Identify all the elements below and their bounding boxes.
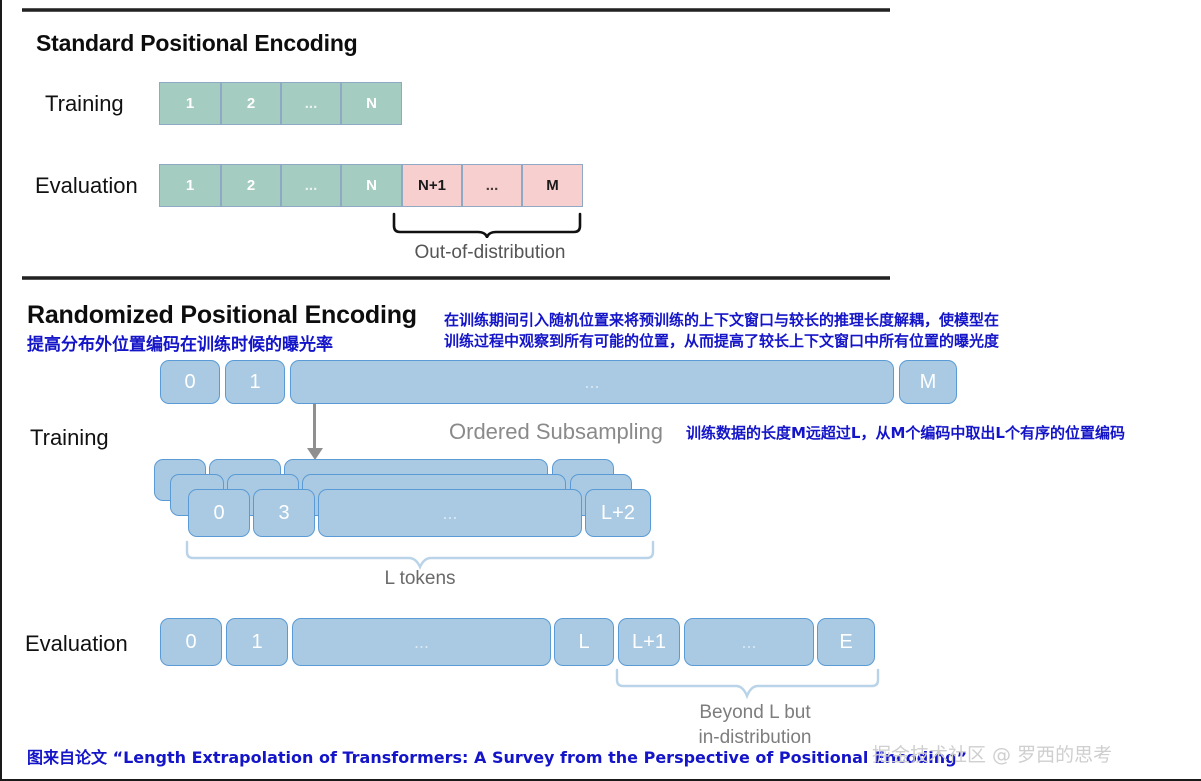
subsampling-annotation: 训练数据的长度M远超过L，从M个编码中取出L个有序的位置编码 — [686, 422, 1125, 443]
standard-training-cell: 2 — [221, 82, 281, 125]
eval-seq-box: 1 — [226, 618, 288, 666]
eval-seq-box: E — [817, 618, 875, 666]
source-seq-box: ... — [290, 360, 894, 404]
out-of-distribution-caption: Out-of-distribution — [405, 240, 575, 265]
standard-eval-ood-cell: M — [522, 164, 583, 207]
sampled-seq-box: L+2 — [585, 489, 651, 537]
randomized-sub-annotation: 提高分布外位置编码在训练时候的曝光率 — [27, 330, 333, 355]
standard-eval-ood-cell: N+1 — [402, 164, 462, 207]
eval-seq-box: ... — [684, 618, 814, 666]
page-border-left — [0, 0, 2, 781]
watermark: 掘金技术社区 @ 罗西的思考 — [872, 740, 1112, 767]
standard-evaluation-label: Evaluation — [35, 173, 138, 199]
out-of-distribution-brace — [390, 212, 585, 238]
eval-seq-box: L — [554, 618, 614, 666]
ordered-subsampling-label: Ordered Subsampling — [449, 419, 663, 445]
standard-eval-ood-cell: ... — [462, 164, 522, 207]
source-seq-box: 0 — [160, 360, 220, 404]
randomized-training-label: Training — [30, 425, 109, 451]
divider-middle — [22, 276, 890, 280]
l-tokens-caption: L tokens — [340, 566, 500, 591]
eval-seq-box: ... — [292, 618, 551, 666]
standard-training-strip: 1 2 ... N — [159, 82, 402, 125]
randomized-section-title: Randomized Positional Encoding — [27, 301, 417, 330]
sampled-seq-box: 3 — [253, 489, 315, 537]
randomized-evaluation-label: Evaluation — [25, 631, 128, 657]
slide-canvas: Standard Positional Encoding Training Ev… — [0, 0, 1201, 781]
standard-evaluation-strip: 1 2 ... N N+1 ... M — [159, 164, 583, 207]
divider-top — [22, 8, 890, 12]
eval-seq-box: L+1 — [618, 618, 680, 666]
source-seq-box: 1 — [225, 360, 285, 404]
standard-training-label: Training — [45, 91, 124, 117]
subsampling-arrow-line — [313, 404, 316, 452]
eval-seq-box: 0 — [160, 618, 222, 666]
standard-eval-indist-cell: 1 — [159, 164, 221, 207]
standard-eval-indist-cell: ... — [281, 164, 341, 207]
beyond-l-brace — [614, 668, 882, 700]
source-seq-box: M — [899, 360, 957, 404]
sampled-seq-box: ... — [318, 489, 582, 537]
standard-training-cell: N — [341, 82, 402, 125]
standard-training-cell: ... — [281, 82, 341, 125]
standard-training-cell: 1 — [159, 82, 221, 125]
standard-eval-indist-cell: N — [341, 164, 402, 207]
standard-eval-indist-cell: 2 — [221, 164, 281, 207]
paper-citation: 图来自论文 “Length Extrapolation of Transform… — [27, 744, 967, 768]
standard-section-title: Standard Positional Encoding — [36, 30, 358, 57]
randomized-main-annotation: 在训练期间引入随机位置来将预训练的上下文窗口与较长的推理长度解耦，使模型在 训练… — [444, 310, 999, 352]
beyond-l-caption: Beyond L but in-distribution — [660, 700, 850, 750]
sampled-seq-box: 0 — [188, 489, 250, 537]
